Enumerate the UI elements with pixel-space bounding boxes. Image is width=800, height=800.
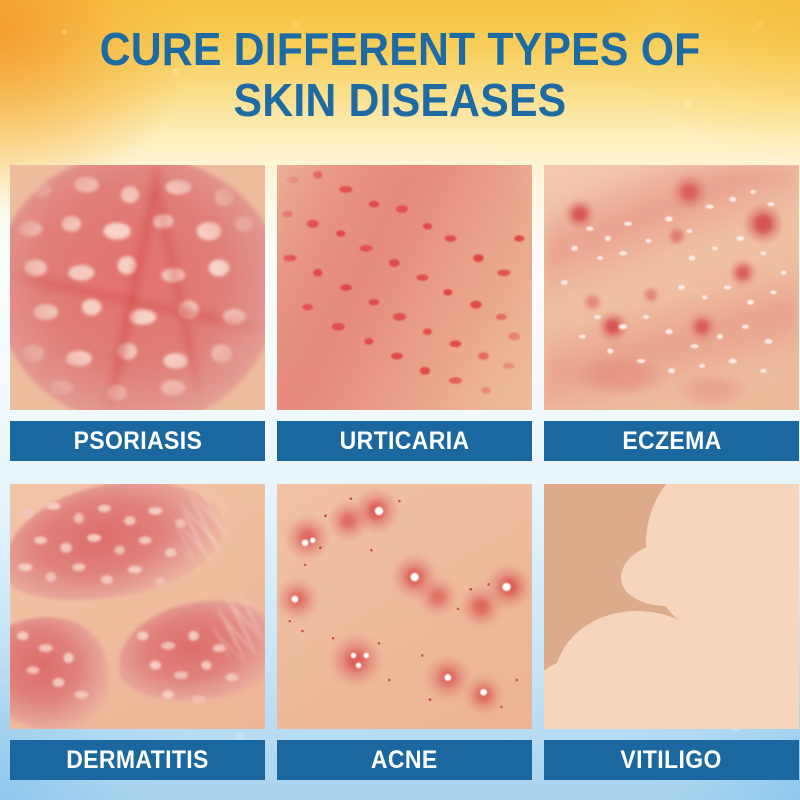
disease-card-vitiligo[interactable]: VITILIGO: [544, 484, 799, 780]
vitiligo-label-bar[interactable]: VITILIGO: [544, 740, 799, 780]
dermatitis-label-bar[interactable]: DERMATITIS: [10, 740, 265, 780]
acne-label-bar[interactable]: ACNE: [277, 740, 532, 780]
vitiligo-label-text: VITILIGO: [621, 746, 722, 775]
disease-card-acne[interactable]: ACNE: [277, 484, 532, 780]
acne-label-text: ACNE: [371, 746, 438, 775]
psoriasis-label-text: PSORIASIS: [73, 427, 202, 456]
disease-card-urticaria[interactable]: URTICARIA: [277, 165, 532, 461]
eczema-image: [544, 165, 799, 410]
page-title-line-1: CURE DIFFERENT TYPES OF: [100, 24, 701, 75]
dermatitis-image: [10, 484, 265, 729]
disease-card-eczema[interactable]: ECZEMA: [544, 165, 799, 461]
disease-card-dermatitis[interactable]: DERMATITIS: [10, 484, 265, 780]
comedone-dot-layer: [277, 484, 532, 729]
dermatitis-label-text: DERMATITIS: [66, 746, 209, 775]
poster-header: CURE DIFFERENT TYPES OF SKIN DISEASES: [0, 0, 800, 150]
disease-card-psoriasis[interactable]: PSORIASIS: [10, 165, 265, 461]
disease-card-grid: PSORIASIS URTICARIA ECZEMA: [10, 165, 790, 780]
urticaria-label-text: URTICARIA: [340, 427, 470, 456]
frayed-edge-layer: [10, 484, 265, 729]
flake-texture-layer: [544, 165, 799, 410]
acne-image: [277, 484, 532, 729]
urticaria-image: [277, 165, 532, 410]
eczema-label-text: ECZEMA: [622, 427, 721, 456]
page-title-line-2: SKIN DISEASES: [234, 75, 567, 126]
vitiligo-image: [544, 484, 799, 729]
fissure-layer: [10, 165, 265, 410]
psoriasis-image: [10, 165, 265, 410]
eczema-label-bar[interactable]: ECZEMA: [544, 421, 799, 461]
psoriasis-label-bar[interactable]: PSORIASIS: [10, 421, 265, 461]
poster-canvas: CURE DIFFERENT TYPES OF SKIN DISEASES PS…: [0, 0, 800, 800]
urticaria-label-bar[interactable]: URTICARIA: [277, 421, 532, 461]
welt-spots-layer: [277, 165, 532, 410]
